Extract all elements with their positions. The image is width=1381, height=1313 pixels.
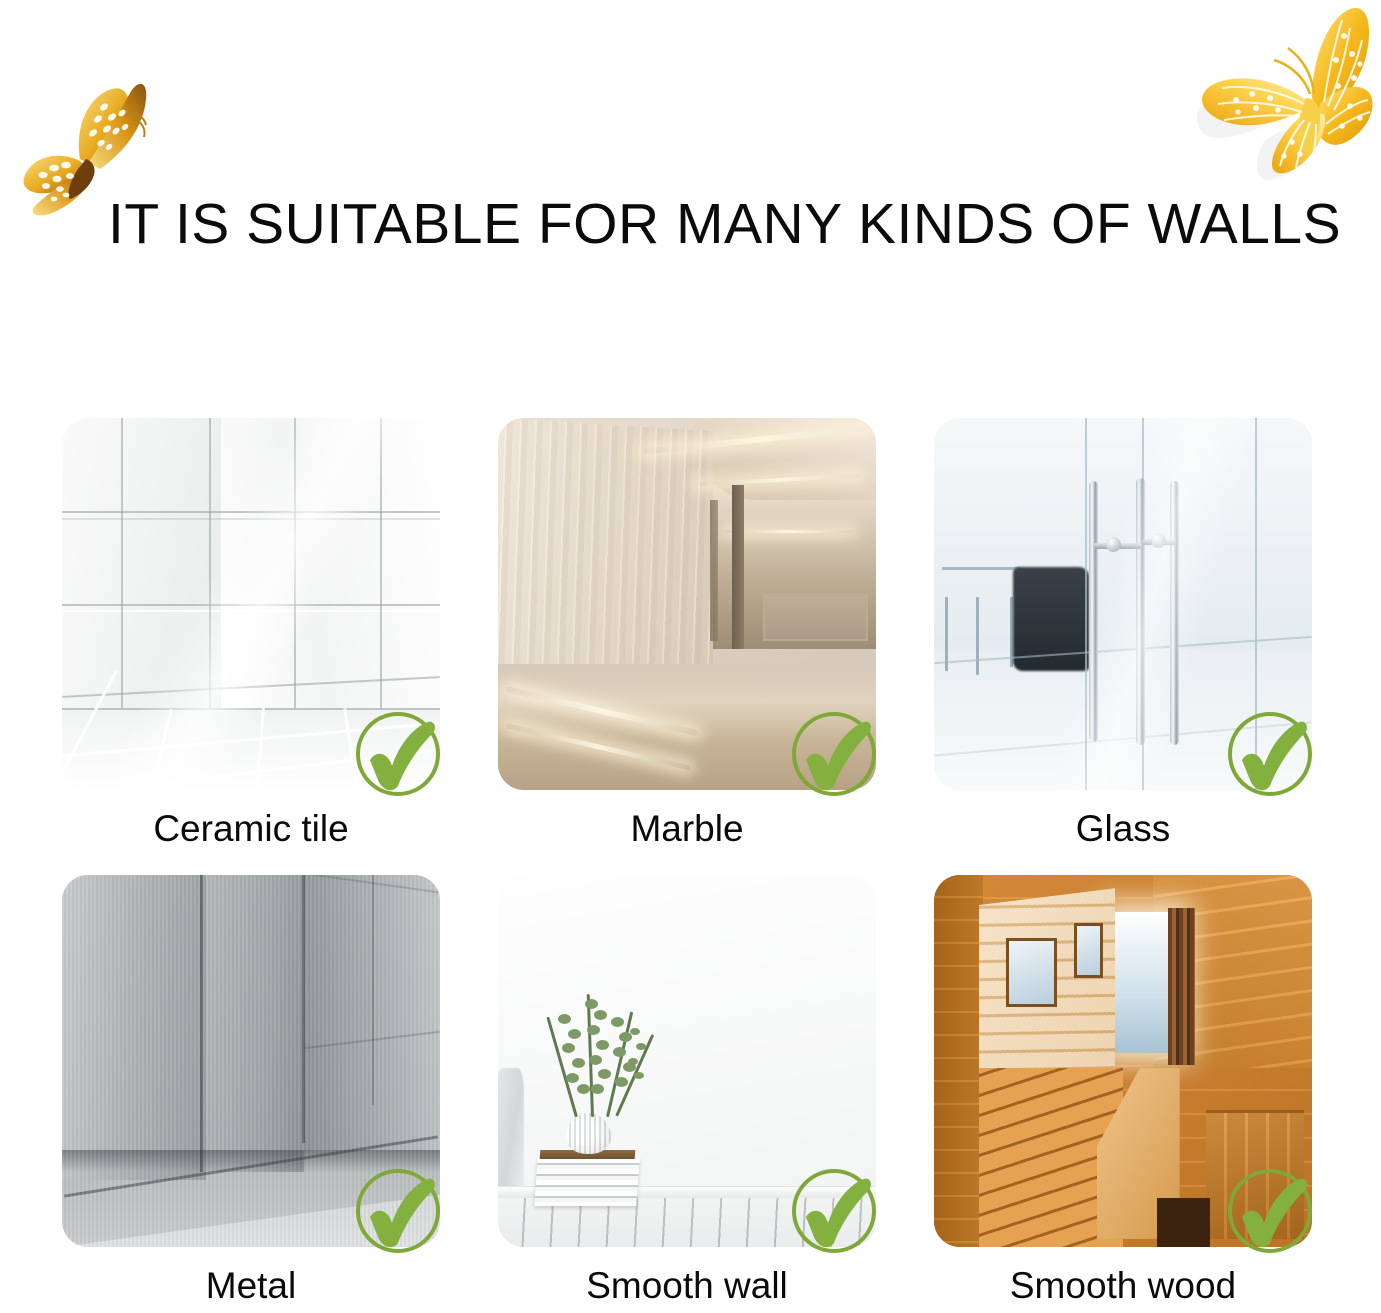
cell-label: Marble <box>630 810 743 849</box>
check-badge-icon <box>784 704 888 808</box>
gallery-row: Metal <box>62 875 1312 1306</box>
check-badge-icon <box>348 1161 452 1265</box>
cell-label: Ceramic tile <box>153 810 348 849</box>
gallery-cell-metal[interactable]: Metal <box>62 875 440 1306</box>
gallery-cell-marble[interactable]: Marble <box>498 418 876 849</box>
check-badge-icon <box>784 1161 888 1265</box>
thumbnail-wrapper <box>498 875 876 1247</box>
check-badge-icon <box>348 704 452 808</box>
thumbnail-wrapper <box>62 418 440 790</box>
gallery-cell-glass[interactable]: Glass <box>934 418 1312 849</box>
butterfly-right-icon <box>1178 2 1378 192</box>
check-badge-icon <box>1220 1161 1324 1265</box>
gallery-cell-ceramic-tile[interactable]: Ceramic tile <box>62 418 440 849</box>
gallery-cell-smooth-wood[interactable]: Smooth wood <box>934 875 1312 1306</box>
surface-gallery-grid: Ceramic tile <box>62 418 1312 1306</box>
page-header: IT IS SUITABLE FOR MANY KINDS OF WALLS <box>0 0 1381 240</box>
cell-label: Glass <box>1076 810 1171 849</box>
cell-label: Smooth wood <box>1010 1267 1236 1306</box>
gallery-cell-smooth-wall[interactable]: Smooth wall <box>498 875 876 1306</box>
cell-label: Smooth wall <box>586 1267 788 1306</box>
page-title: IT IS SUITABLE FOR MANY KINDS OF WALLS <box>108 196 1341 253</box>
check-badge-icon <box>1220 704 1324 808</box>
thumbnail-wrapper <box>498 418 876 790</box>
thumbnail-wrapper <box>934 418 1312 790</box>
cell-label: Metal <box>206 1267 296 1306</box>
gallery-row: Ceramic tile <box>62 418 1312 849</box>
thumbnail-wrapper <box>934 875 1312 1247</box>
thumbnail-wrapper <box>62 875 440 1247</box>
